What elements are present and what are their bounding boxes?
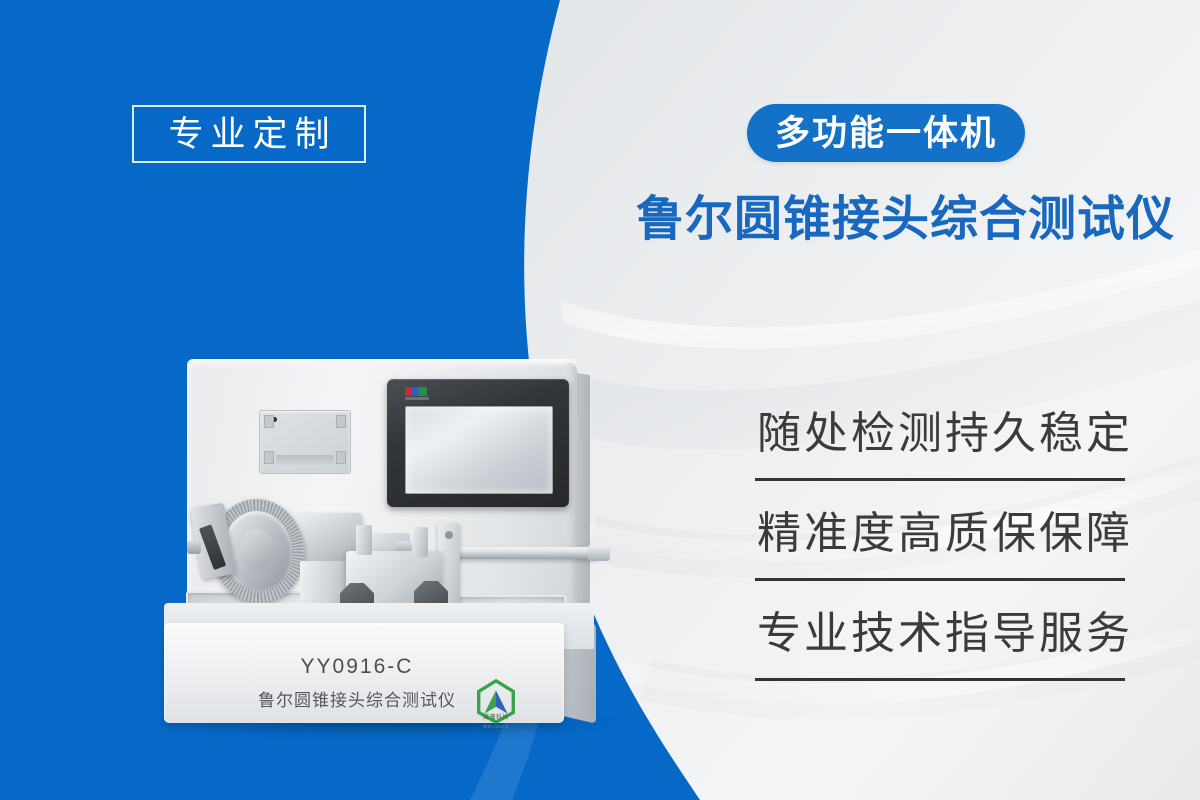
feature-label: 随处检测持久稳定 bbox=[757, 408, 1133, 461]
door-slot bbox=[276, 455, 334, 467]
custom-made-badge: 专业定制 bbox=[132, 105, 366, 163]
brand-logo-name: 威骥科技 bbox=[466, 715, 526, 723]
product-image: YY0916-C 鲁尔圆锥接头综合测试仪 威骥科技 WEIJIKEJI bbox=[150, 355, 670, 775]
dial-hub bbox=[240, 529, 274, 571]
feature-label: 专业技术指导服务 bbox=[757, 608, 1133, 661]
feature-divider bbox=[755, 678, 1125, 681]
push-rod-tip bbox=[588, 545, 610, 561]
hmi-touchscreen[interactable] bbox=[387, 379, 569, 507]
door-clip bbox=[264, 451, 274, 464]
hmi-brand-logo-underline bbox=[405, 397, 429, 400]
promo-banner: 专业定制 多功能一体机 鲁尔圆锥接头综合测试仪 随处检测持久稳定 精准度高质保保… bbox=[0, 0, 1200, 800]
feature-item: 专业技术指导服务 bbox=[755, 602, 1127, 702]
feature-divider bbox=[755, 478, 1125, 481]
door-clip bbox=[336, 451, 346, 464]
feature-label: 精准度高质保保障 bbox=[757, 508, 1133, 561]
clamp-post bbox=[356, 525, 372, 555]
printer-access-door bbox=[259, 410, 351, 474]
feature-divider bbox=[755, 578, 1125, 581]
brand-logo-english: WEIJIKEJI bbox=[466, 724, 526, 729]
clamp-post bbox=[412, 527, 428, 557]
door-clip bbox=[336, 415, 346, 428]
feature-item: 精准度高质保保障 bbox=[755, 502, 1127, 602]
door-clip bbox=[264, 415, 274, 428]
rotary-torque-mechanism bbox=[196, 495, 346, 615]
bracket-hole bbox=[445, 531, 453, 539]
page-title: 鲁尔圆锥接头综合测试仪 bbox=[636, 196, 1175, 244]
feature-list: 随处检测持久稳定 精准度高质保保障 专业技术指导服务 bbox=[755, 402, 1127, 702]
multifunction-pill-badge: 多功能一体机 bbox=[747, 104, 1025, 162]
hmi-display-area[interactable] bbox=[405, 406, 553, 494]
multifunction-pill-label: 多功能一体机 bbox=[775, 116, 997, 151]
feature-item: 随处检测持久稳定 bbox=[755, 402, 1127, 502]
custom-made-badge-label: 专业定制 bbox=[161, 117, 336, 152]
jaw-stub bbox=[187, 541, 201, 554]
hmi-brand-logo-icon bbox=[405, 387, 427, 396]
product-model-label: YY0916-C bbox=[150, 655, 564, 679]
specimen-jaw-slot bbox=[199, 524, 226, 570]
horizontal-push-rod bbox=[440, 547, 600, 559]
